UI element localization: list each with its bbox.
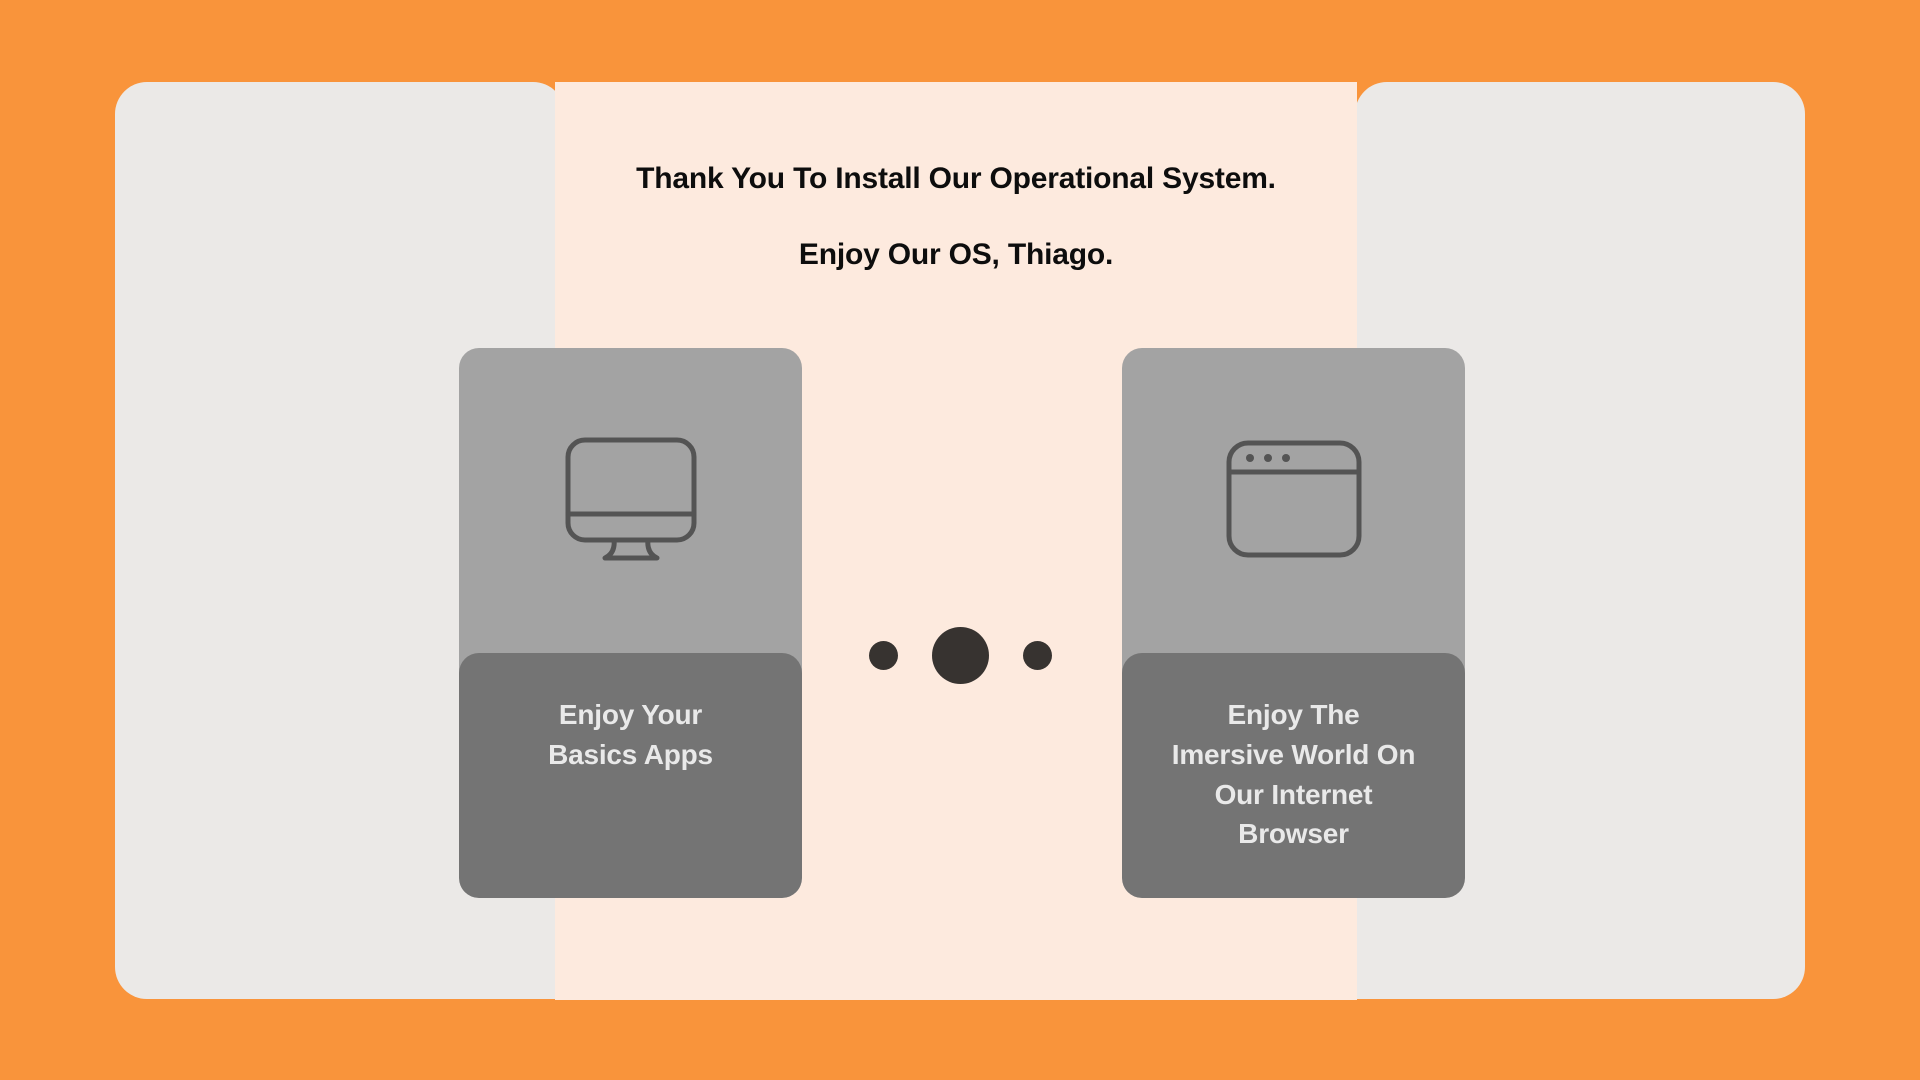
pagination-dot-1[interactable] xyxy=(869,641,898,670)
card-label-panel: Enjoy Your Basics Apps xyxy=(459,653,802,898)
heading-line-2: Enjoy Our OS, Thiago. xyxy=(555,236,1357,274)
pagination-dot-3[interactable] xyxy=(1023,641,1052,670)
pagination-dots xyxy=(840,625,1080,685)
card-basics-apps[interactable]: Enjoy Your Basics Apps xyxy=(459,348,802,898)
heading-block: Thank You To Install Our Operational Sys… xyxy=(555,160,1357,273)
card-label-internet-browser: Enjoy The Imersive World On Our Internet… xyxy=(1172,695,1416,854)
card-label-panel: Enjoy The Imersive World On Our Internet… xyxy=(1122,653,1465,898)
heading-line-1: Thank You To Install Our Operational Sys… xyxy=(555,160,1357,198)
browser-window-icon xyxy=(1224,438,1364,565)
monitor-icon xyxy=(563,435,699,568)
welcome-screen: Thank You To Install Our Operational Sys… xyxy=(0,0,1920,1080)
card-icon-area xyxy=(1122,348,1465,655)
card-internet-browser[interactable]: Enjoy The Imersive World On Our Internet… xyxy=(1122,348,1465,898)
card-label-basics-apps: Enjoy Your Basics Apps xyxy=(548,695,713,775)
card-icon-area xyxy=(459,348,802,655)
pagination-dot-2-active[interactable] xyxy=(932,627,989,684)
